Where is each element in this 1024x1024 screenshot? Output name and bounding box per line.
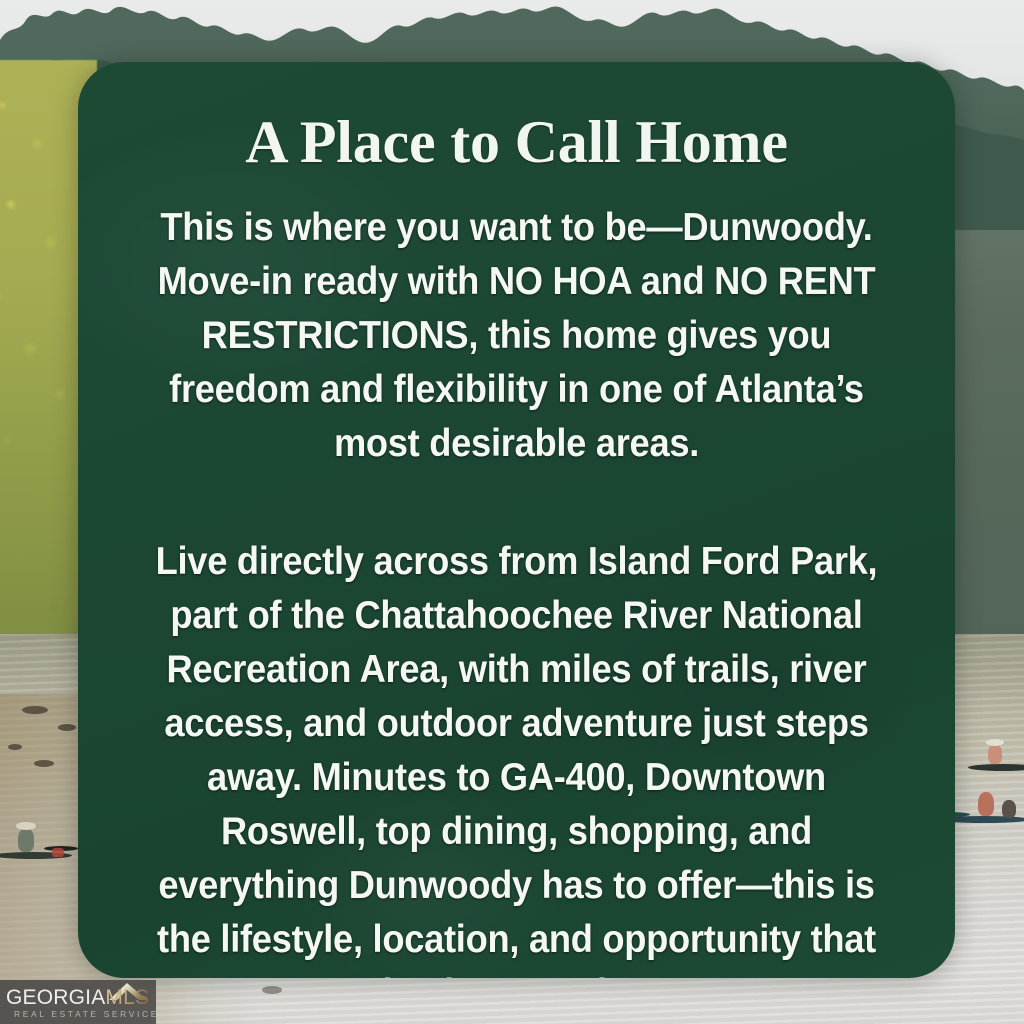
description-paragraph-1: This is where you want to be—Dunwoody. M… <box>140 175 892 471</box>
kayak-left-gear <box>52 848 64 857</box>
water-debris <box>34 760 54 767</box>
kayaker-right-far-hat <box>986 739 1004 746</box>
kayaker-left <box>18 828 34 852</box>
text-card: A Place to Call Home This is where you w… <box>78 62 955 978</box>
water-debris <box>22 706 48 714</box>
listing-graphic: A Place to Call Home This is where you w… <box>0 0 1024 1024</box>
watermark: GEORGIA MLS REAL ESTATE SERVICES <box>0 980 156 1024</box>
kayaker-right-far <box>988 744 1002 764</box>
page-title: A Place to Call Home <box>112 62 921 175</box>
watermark-tagline: REAL ESTATE SERVICES <box>14 1010 156 1019</box>
kayaker-left-hat <box>16 822 36 830</box>
water-debris <box>262 986 282 994</box>
kayaker-right-near-b <box>1002 800 1016 818</box>
watermark-brand-primary: GEORGIA <box>6 987 105 1008</box>
kayaker-right-near-a <box>978 792 994 816</box>
water-debris <box>8 744 22 750</box>
description-paragraph-2: Live directly across from Island Ford Pa… <box>140 471 892 978</box>
watermark-brand-secondary: MLS <box>105 987 149 1008</box>
water-debris <box>58 724 76 731</box>
